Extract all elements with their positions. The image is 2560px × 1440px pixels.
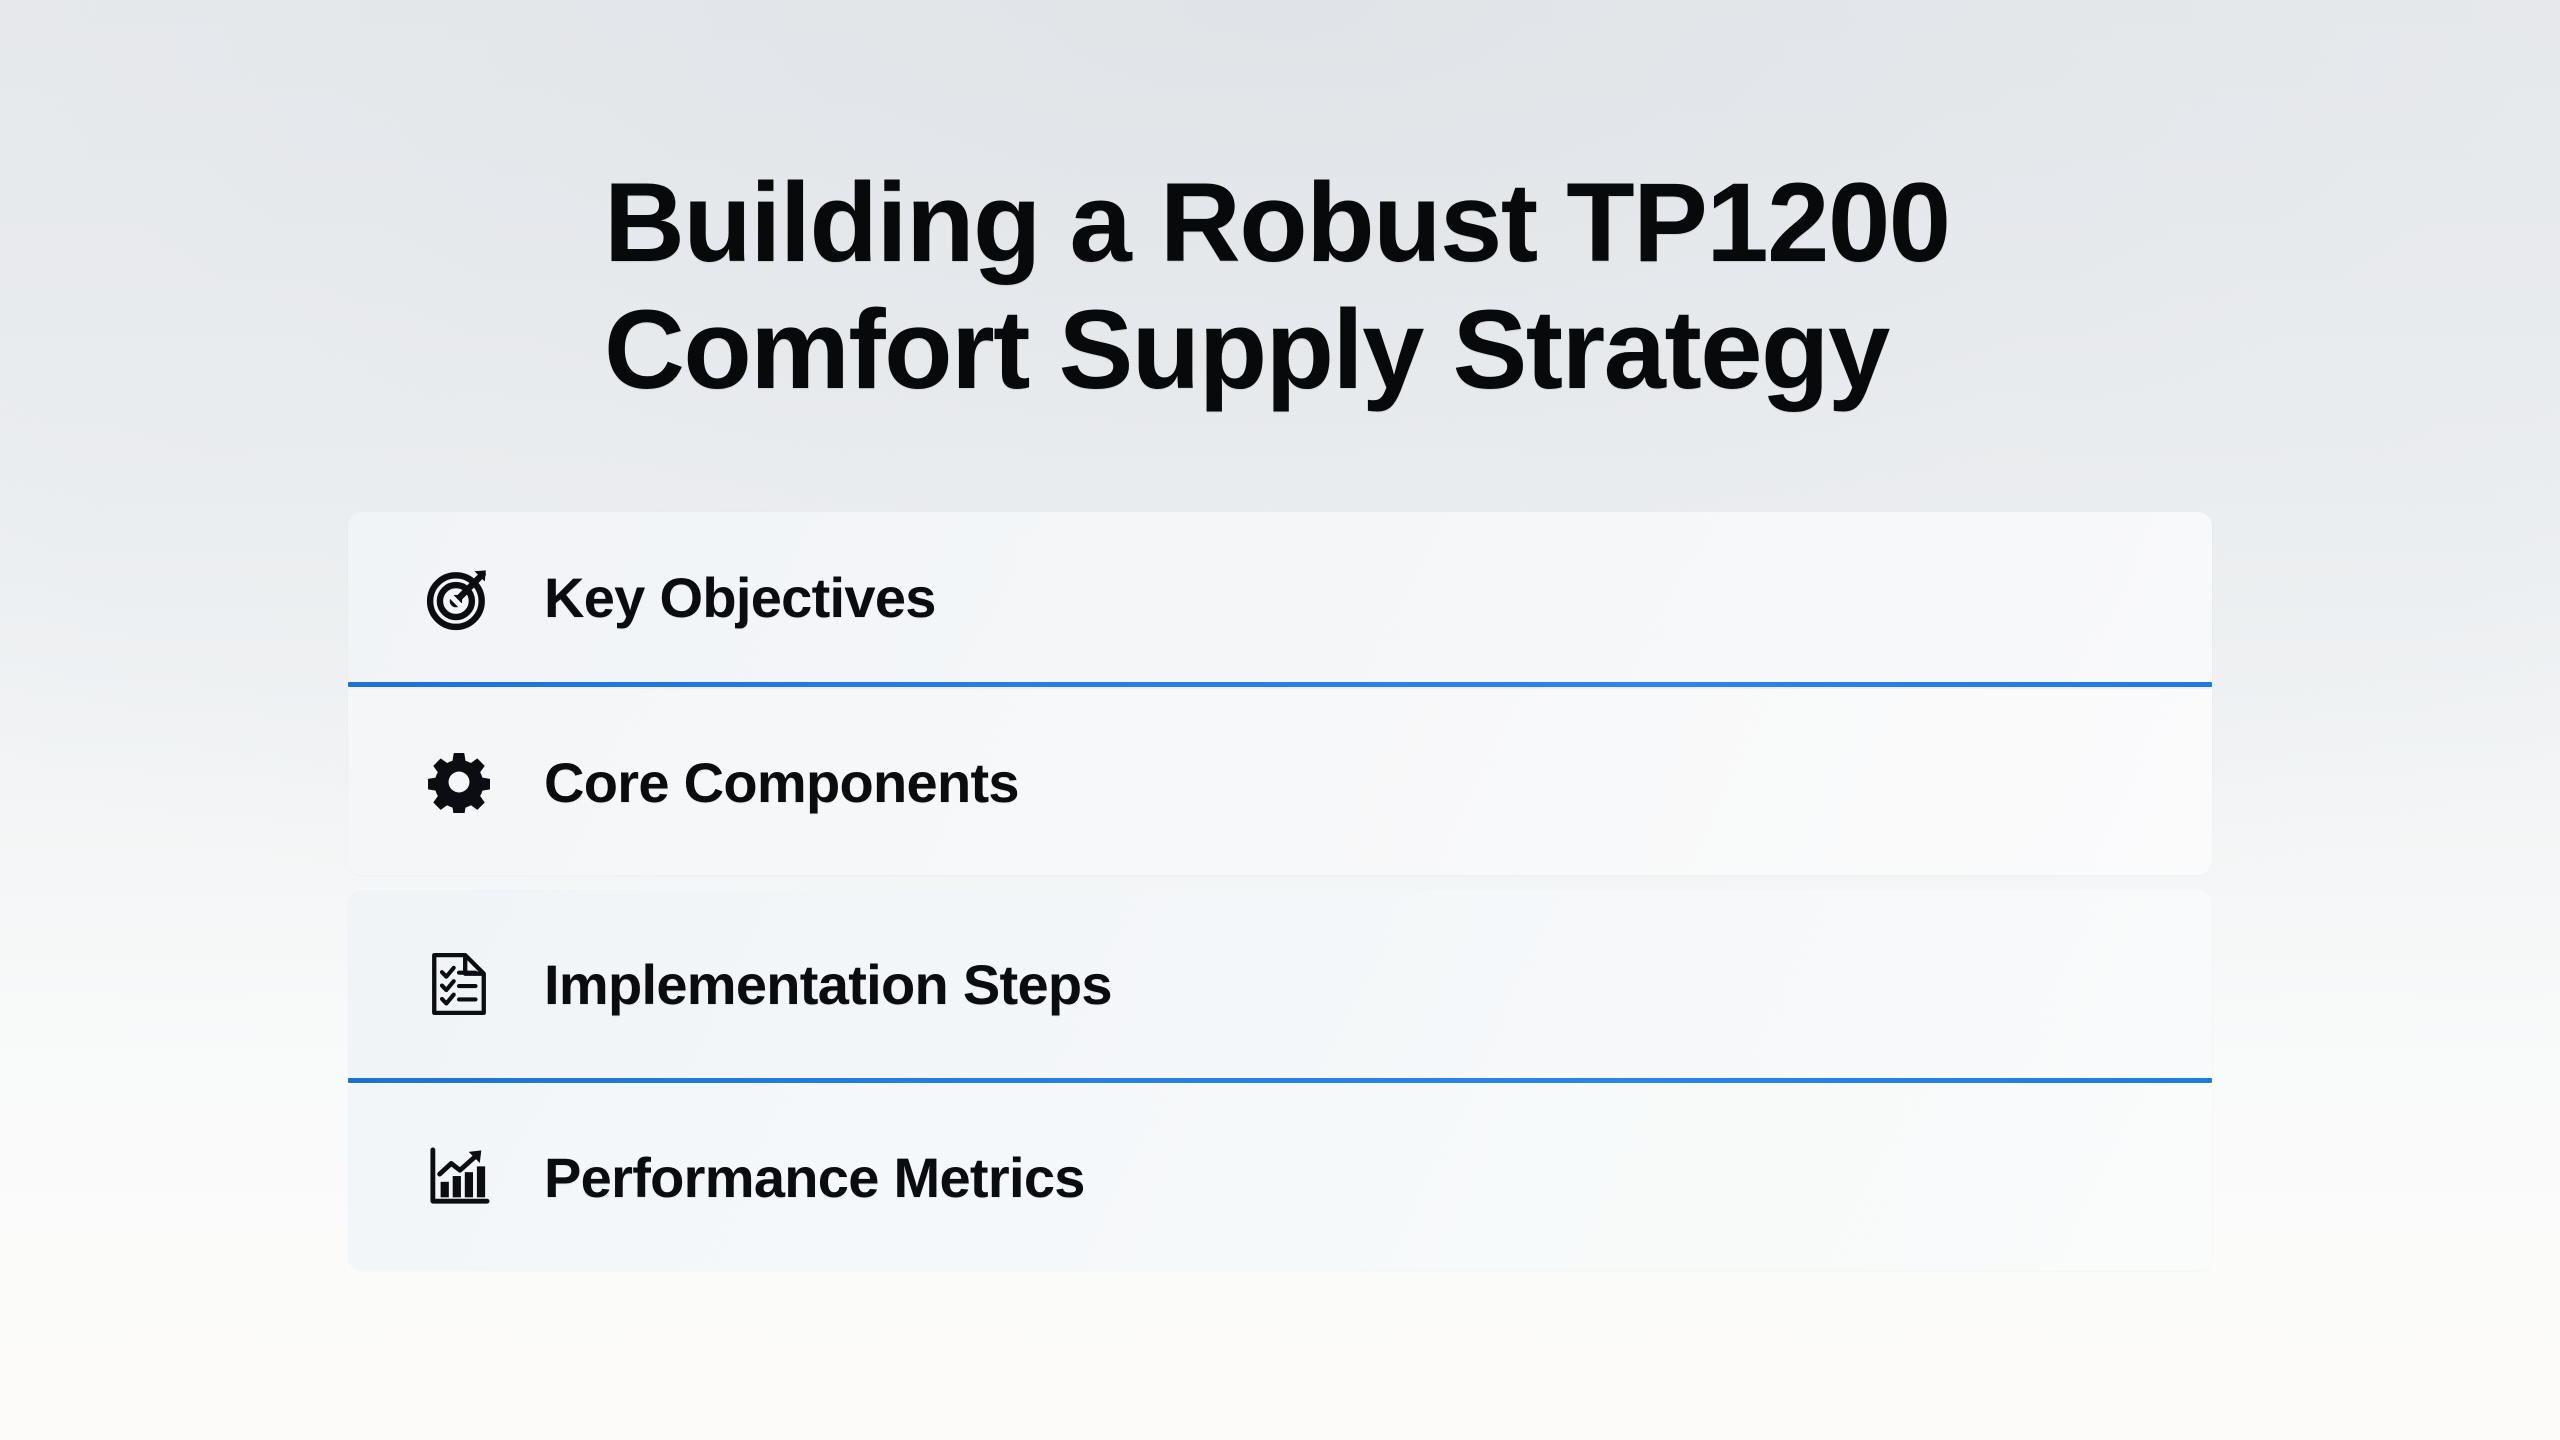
- bar-chart-growth-icon: [426, 1144, 492, 1210]
- accent-divider-1: [348, 682, 2212, 687]
- section-label: Performance Metrics: [544, 1145, 1085, 1210]
- slide-canvas: Building a Robust TP1200 Comfort Supply …: [0, 0, 2560, 1440]
- page-title: Building a Robust TP1200 Comfort Supply …: [604, 160, 2104, 413]
- gear-icon: [426, 749, 492, 815]
- section-label: Implementation Steps: [544, 952, 1112, 1017]
- section-row-implementation-steps[interactable]: Implementation Steps: [348, 890, 2212, 1078]
- section-row-core-components[interactable]: Core Components: [348, 689, 2212, 875]
- section-label: Key Objectives: [544, 565, 936, 630]
- accent-divider-2: [348, 1078, 2212, 1083]
- section-label: Core Components: [544, 750, 1019, 815]
- section-list: Key Objectives Core Components: [348, 512, 2212, 1270]
- checklist-document-icon: [426, 951, 492, 1017]
- section-row-key-objectives[interactable]: Key Objectives: [348, 512, 2212, 683]
- target-icon: [426, 565, 492, 631]
- section-row-performance-metrics[interactable]: Performance Metrics: [348, 1084, 2212, 1270]
